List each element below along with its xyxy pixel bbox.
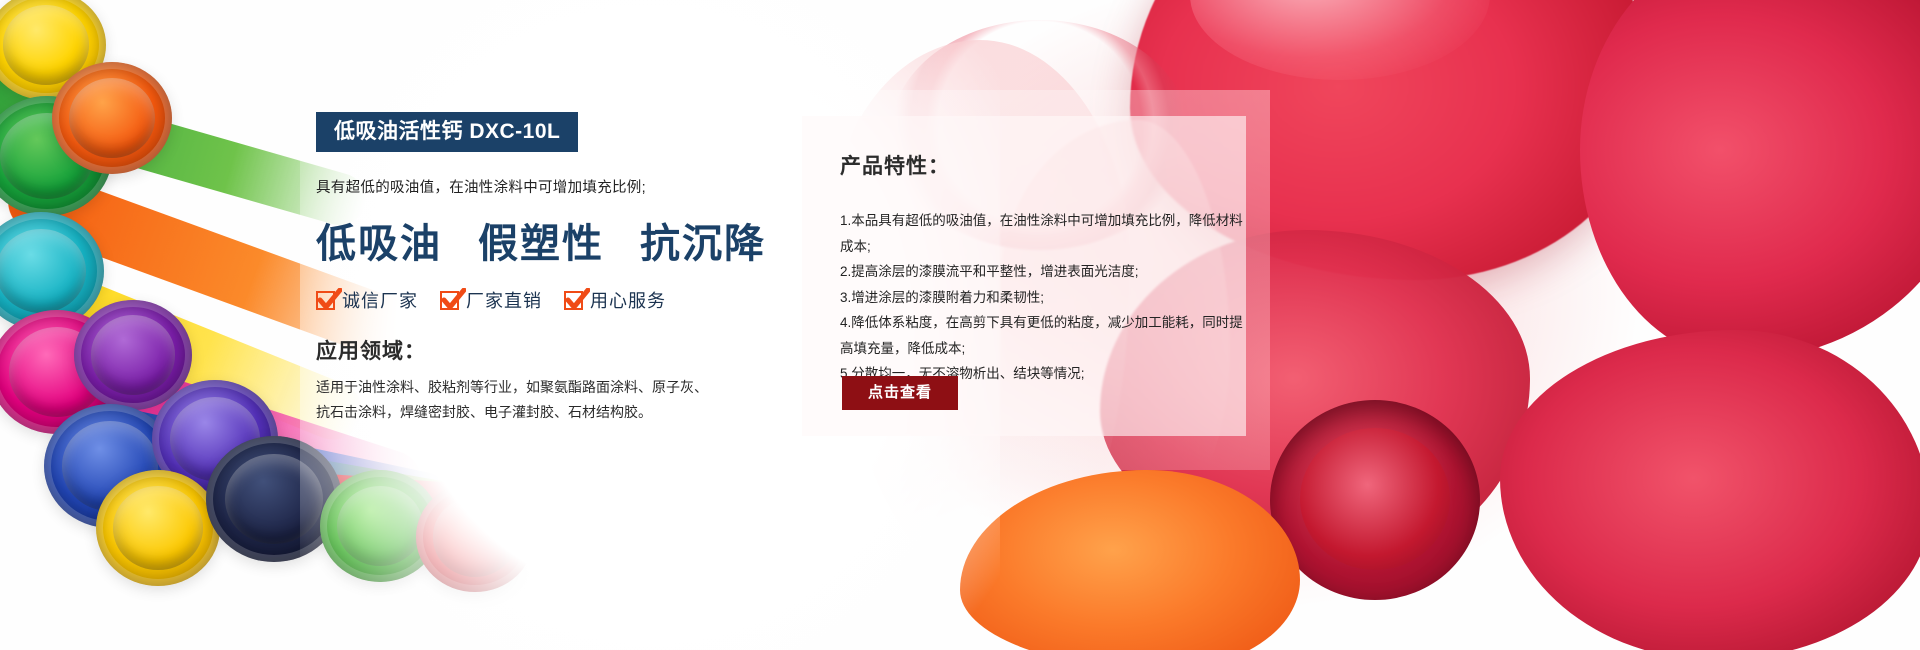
feature-line-3: 2.提高涂层的漆膜流平和平整性，增进表面光洁度; — [840, 259, 1222, 285]
trust-badge-1: 诚信厂家 — [316, 287, 418, 313]
product-subtitle: 具有超低的吸油值，在油性涂料中可增加填充比例; — [316, 176, 736, 197]
keyword-3: 抗沉降 — [640, 211, 766, 269]
application-heading: 应用领域： — [316, 335, 736, 365]
left-content-column: 低吸油活性钙 DXC-10L 具有超低的吸油值，在油性涂料中可增加填充比例; 低… — [316, 112, 736, 425]
product-title-badge: 低吸油活性钙 DXC-10L — [316, 112, 578, 152]
keyword-row: 低吸油 假塑性 抗沉降 — [316, 211, 736, 269]
keyword-1: 低吸油 — [316, 211, 442, 269]
trust-badge-3: 用心服务 — [564, 287, 666, 313]
trust-badge-label-3: 用心服务 — [590, 287, 666, 313]
feature-line-4: 3.增进涂层的漆膜附着力和柔韧性; — [840, 285, 1222, 311]
features-panel-inner: 产品特性： 1.本品具有超低的吸油值，在油性涂料中可增加填充比例，降低材料 成本… — [840, 150, 1222, 387]
check-mark-icon — [564, 291, 583, 310]
trust-badge-2: 厂家直销 — [440, 287, 542, 313]
trust-badge-row: 诚信厂家 厂家直销 用心服务 — [316, 287, 736, 313]
keyword-2: 假塑性 — [478, 211, 604, 269]
check-mark-icon — [316, 291, 335, 310]
view-details-button[interactable]: 点击查看 — [842, 376, 958, 410]
features-panel-title: 产品特性： — [840, 150, 1222, 180]
feature-line-2: 成本; — [840, 234, 1222, 260]
feature-line-5: 4.降低体系粘度，在高剪下具有更低的粘度，减少加工能耗，同时提 — [840, 310, 1222, 336]
check-mark-icon — [440, 291, 459, 310]
trust-badge-label-2: 厂家直销 — [466, 287, 542, 313]
application-description: 适用于油性涂料、胶粘剂等行业，如聚氨酯路面涂料、原子灰、抗石击涂料，焊缝密封胶、… — [316, 375, 716, 425]
feature-line-6: 高填充量，降低成本; — [840, 336, 1222, 362]
feature-line-1: 1.本品具有超低的吸油值，在油性涂料中可增加填充比例，降低材料 — [840, 208, 1222, 234]
trust-badge-label-1: 诚信厂家 — [342, 287, 418, 313]
features-list: 1.本品具有超低的吸油值，在油性涂料中可增加填充比例，降低材料 成本; 2.提高… — [840, 208, 1222, 387]
product-features-panel: 产品特性： 1.本品具有超低的吸油值，在油性涂料中可增加填充比例，降低材料 成本… — [802, 116, 1246, 436]
